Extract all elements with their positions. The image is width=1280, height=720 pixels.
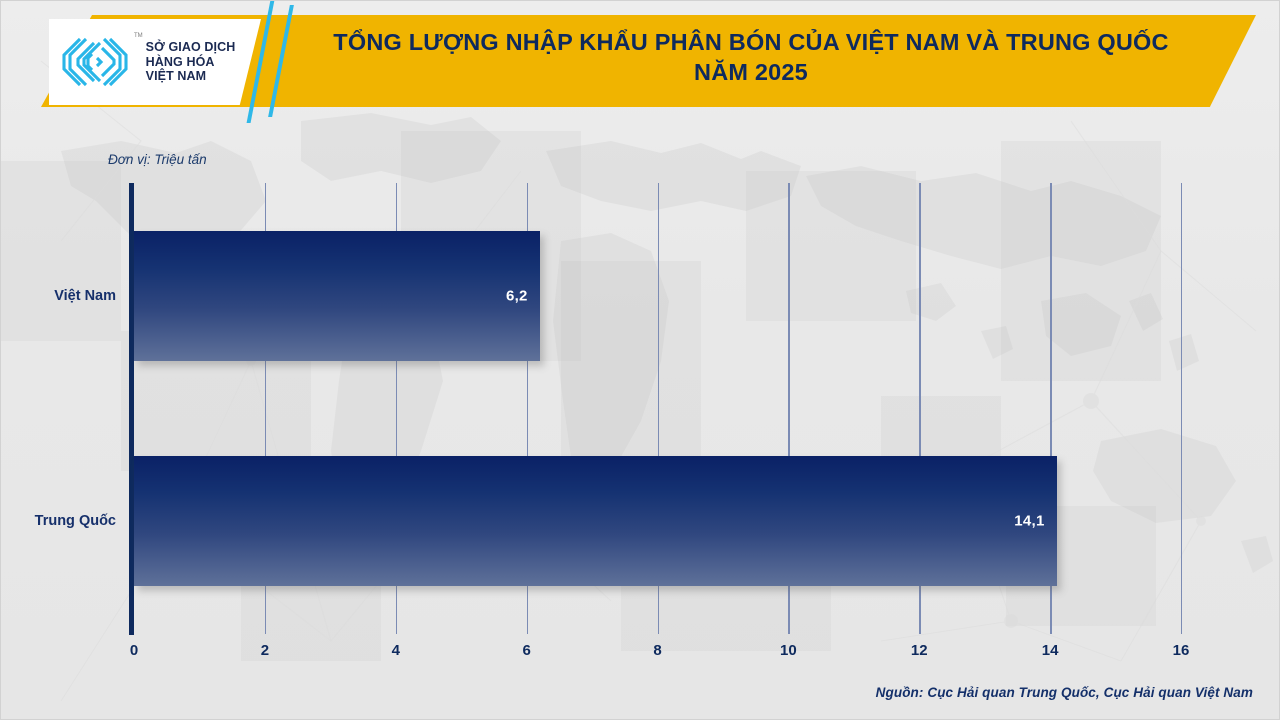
category-label: Trung Quốc bbox=[0, 513, 116, 529]
logo-line-3: VIỆT NAM bbox=[146, 69, 207, 83]
x-tick-label: 16 bbox=[1151, 642, 1211, 659]
x-tick-label: 12 bbox=[889, 642, 949, 659]
bar: 6,2 bbox=[134, 231, 540, 361]
logo-line-2: HÀNG HÓA bbox=[146, 55, 215, 69]
x-tick-label: 2 bbox=[235, 642, 295, 659]
source-note: Nguồn: Cục Hải quan Trung Quốc, Cục Hải … bbox=[876, 685, 1253, 700]
bar-value-label: 14,1 bbox=[1014, 513, 1044, 530]
x-tick-label: 8 bbox=[628, 642, 688, 659]
title-line-1: TỔNG LƯỢNG NHẬP KHẨU PHÂN BÓN CỦA VIỆT N… bbox=[301, 27, 1201, 57]
plot-area: 6,214,1 bbox=[134, 183, 1181, 634]
bar: 14,1 bbox=[134, 456, 1057, 586]
header-banner: TM SỞ GIAO DỊCH HÀNG HÓA VIỆT NAM TỔNG L… bbox=[1, 1, 1280, 121]
mci-maze-logo-icon bbox=[59, 34, 133, 90]
trademark-mark: TM bbox=[134, 33, 143, 39]
bar-value-label: 6,2 bbox=[506, 287, 528, 304]
x-tick-label: 14 bbox=[1020, 642, 1080, 659]
x-tick-label: 10 bbox=[758, 642, 818, 659]
unit-label: Đơn vị: Triệu tấn bbox=[108, 152, 207, 167]
title-line-2: NĂM 2025 bbox=[301, 57, 1201, 87]
infographic-chart-page: TM SỞ GIAO DỊCH HÀNG HÓA VIỆT NAM TỔNG L… bbox=[0, 0, 1280, 720]
x-tick-label: 6 bbox=[497, 642, 557, 659]
category-label: Việt Nam bbox=[0, 288, 116, 304]
logo-line-1: SỞ GIAO DỊCH bbox=[146, 40, 236, 54]
logo-wordmark: SỞ GIAO DỊCH HÀNG HÓA VIỆT NAM bbox=[146, 40, 236, 84]
logo-card: TM SỞ GIAO DỊCH HÀNG HÓA VIỆT NAM bbox=[49, 19, 261, 105]
x-tick-label: 0 bbox=[104, 642, 164, 659]
gridline bbox=[1181, 183, 1182, 634]
x-tick-label: 4 bbox=[366, 642, 426, 659]
page-title: TỔNG LƯỢNG NHẬP KHẨU PHÂN BÓN CỦA VIỆT N… bbox=[301, 27, 1201, 87]
